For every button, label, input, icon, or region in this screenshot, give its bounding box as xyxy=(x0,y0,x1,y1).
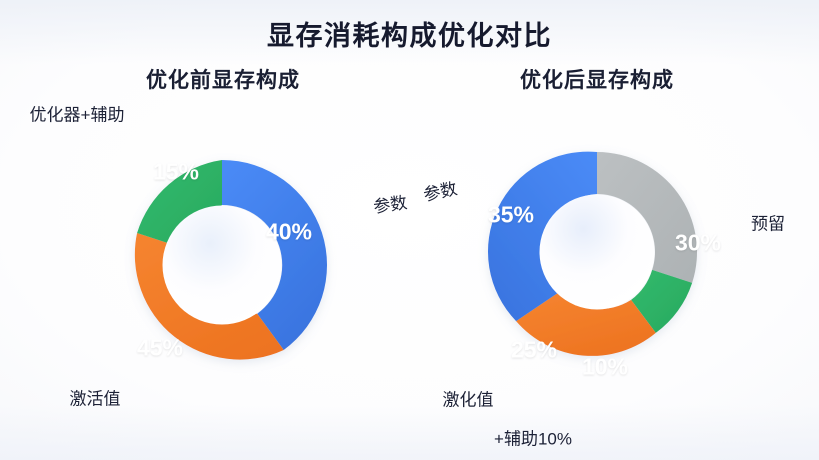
right-chart-subtitle: 优化后显存构成 xyxy=(462,64,732,94)
right-percent-reserved: 30% xyxy=(675,230,721,257)
right-label-params: 参数 xyxy=(421,174,459,206)
right-percent-activation: 25% xyxy=(511,337,557,364)
left-label-optimizer: 优化器+辅助 xyxy=(30,101,125,126)
right-percent-params: 35% xyxy=(488,202,534,229)
left-percent-optimizer: 15% xyxy=(153,159,199,186)
right-percent-aux: 10% xyxy=(582,354,628,381)
right-label-activation: 激化值 xyxy=(443,386,494,411)
left-percent-activation: 45% xyxy=(137,335,183,362)
page-title: 显存消耗构成优化对比 xyxy=(0,14,819,53)
left-percent-params: 40% xyxy=(266,219,312,246)
chart-canvas: 显存消耗构成优化对比 优化前显存构成 优化后显存构成 xyxy=(0,0,819,460)
right-donut-svg xyxy=(497,152,697,352)
left-donut-hole xyxy=(163,206,282,325)
left-label-activation: 激活值 xyxy=(70,385,121,410)
left-chart-subtitle: 优化前显存构成 xyxy=(88,64,358,94)
right-label-reserved: 预留 xyxy=(751,210,785,235)
right-donut-chart xyxy=(497,152,697,352)
right-donut-hole xyxy=(540,195,655,310)
left-label-params: 参数 xyxy=(371,188,408,217)
right-label-aux: +辅助10% xyxy=(494,425,572,450)
